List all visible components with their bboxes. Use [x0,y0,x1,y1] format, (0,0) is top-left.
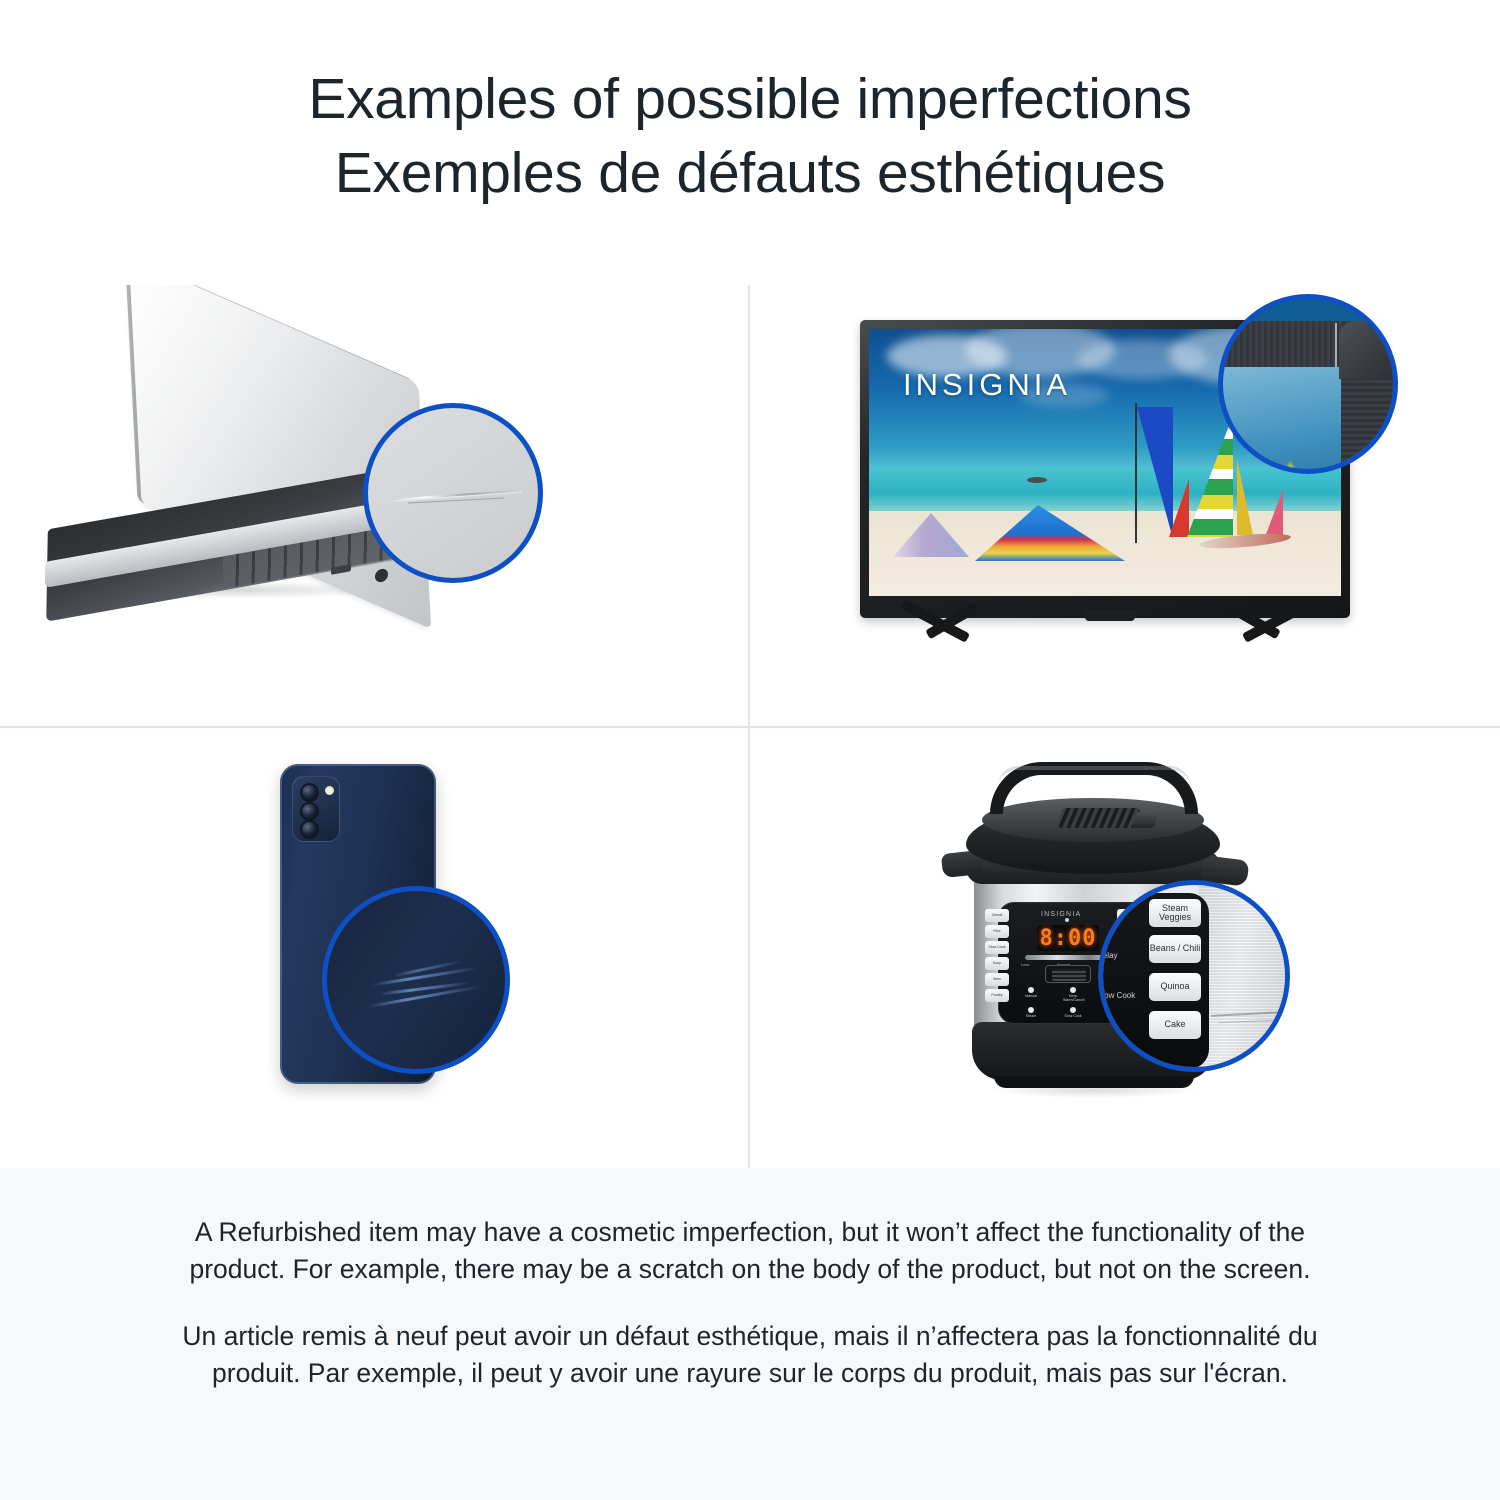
cooker-magnified-side-label: Slow Cook [1098,991,1145,1000]
cooker-mini-button-label: Keep Warm/Cancel [1063,994,1085,1002]
phone-panel [0,728,748,1168]
cooker-magnified-button[interactable]: Steam Veggies [1149,899,1201,927]
page-title-fr: Exemples de défauts esthétiques [0,136,1500,210]
cooker-mini-button-label: Manual [1025,994,1037,998]
cooker-scratch-line [1219,1020,1275,1023]
slider-label-less: Less [1021,962,1029,967]
camera-lens-icon [300,802,319,821]
cooker-mini-button-label: Slow Cook [1064,1014,1081,1018]
phone-magnifier-circle [322,886,510,1074]
sea-band [869,468,1341,511]
infographic-page: Examples of possible imperfections Exemp… [0,0,1500,1500]
tv-magnified-bezel-corner [1339,321,1398,379]
cooker-brand-label: INSIGNIA [1041,911,1081,918]
button-dot-icon [1070,1007,1076,1013]
camera-lens-icon [300,783,319,802]
cooker-dial-grip [1052,969,1086,981]
cooker-button[interactable]: Cereal [985,909,1009,922]
cooker-magnified-panel: Delay Slow Cook Steam Veggies Beans / Ch… [1098,893,1209,1069]
cooker-bar-handle-highlight [998,766,1190,786]
tv-bezel-scuff [1335,323,1337,367]
camera-flash-icon [325,786,334,795]
phone-illustration [262,756,522,1116]
cooker-magnified-steel [1199,885,1290,1072]
tv-magnifier-circle [1218,294,1398,474]
button-dot-icon [1028,1007,1034,1013]
cooker-scratch-line [1211,1011,1285,1016]
pressure-cooker-illustration: INSIGNIA 8:00 Less Normal More Cereal Ri… [938,746,1318,1146]
tv-panel: INSIGNIA [750,285,1500,726]
laptop-illustration [45,313,505,633]
pressure-cooker-panel: INSIGNIA 8:00 Less Normal More Cereal Ri… [750,728,1500,1168]
cooker-magnifier-circle: Delay Slow Cook Steam Veggies Beans / Ch… [1098,880,1290,1072]
cooker-button[interactable]: Poultry [985,989,1009,1002]
cooker-magnified-button[interactable]: Quinoa [1149,973,1201,1001]
cooker-dial[interactable] [1045,965,1091,983]
laptop-panel [0,285,748,726]
cooker-left-button-column: Cereal Rice Slow Cook Soup Stew Poultry [985,909,1009,1005]
laptop-scratch-highlight [394,490,522,501]
page-title: Examples of possible imperfections Exemp… [0,62,1500,210]
cooker-status-led [1065,918,1069,922]
cooker-mini-button[interactable]: Keep Warm/Cancel [1063,987,1083,1003]
phone-camera-module [292,776,340,842]
blue-sail [1137,407,1173,539]
disclaimer-section: A Refurbished item may have a cosmetic i… [0,1168,1500,1500]
disclaimer-fr: Un article remis à neuf peut avoir un dé… [176,1318,1324,1392]
cooker-mini-button[interactable]: Manual [1021,987,1041,1003]
distant-boat [1027,477,1047,483]
cooker-mini-button[interactable]: Slow Cook [1063,1007,1083,1019]
cooker-feet [994,1076,1194,1088]
cooker-button[interactable]: Rice [985,925,1009,938]
page-title-en: Examples of possible imperfections [0,62,1500,136]
cooker-display: 8:00 [1037,925,1099,951]
camera-lens-icon [300,820,319,839]
button-dot-icon [1028,987,1034,993]
cooker-magnified-side-label: Delay [1098,951,1145,960]
cooker-magnified-button[interactable]: Cake [1149,1011,1201,1039]
cooker-magnified-button[interactable]: Beans / Chili [1149,935,1201,963]
tv-screen-brand: INSIGNIA [903,367,1071,403]
product-examples-grid: INSIGNIA [0,285,1500,1168]
cooker-pressure-valve [1132,812,1158,828]
cooker-button[interactable]: Soup [985,957,1009,970]
cooker-button[interactable]: Stew [985,973,1009,986]
button-dot-icon [1070,987,1076,993]
cooker-mini-button[interactable]: Steam [1021,1007,1041,1019]
disclaimer-en: A Refurbished item may have a cosmetic i… [176,1214,1324,1288]
tv-center-badge [1085,610,1135,621]
tv-illustration: INSIGNIA [860,310,1390,680]
cooker-mini-button-label: Steam [1026,1014,1036,1018]
laptop-magnifier-circle [363,403,543,583]
cooker-button[interactable]: Slow Cook [985,941,1009,954]
